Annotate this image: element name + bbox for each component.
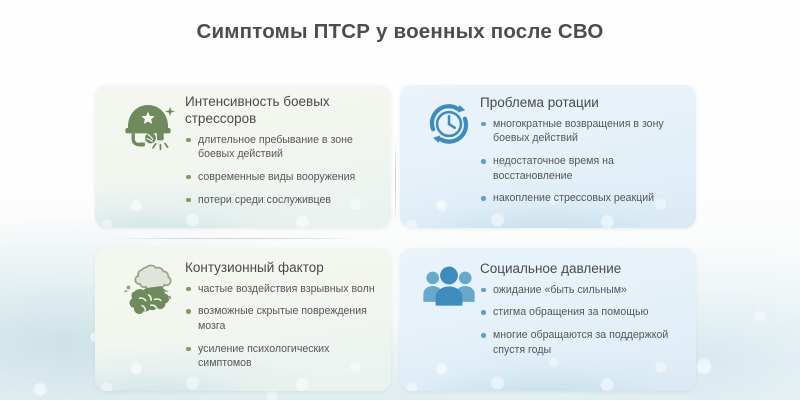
card-heading: Контузионный фактор [185, 260, 381, 277]
bullet-item: накопление стрессовых реакций [480, 191, 688, 206]
clock-rotation-icon [418, 95, 480, 149]
slide-canvas: Симптомы ПТСР у военных после СВО [0, 0, 800, 400]
military-helmet-bullet-icon [113, 94, 185, 154]
card-heading: Интенсивность боевых стрессоров [185, 94, 381, 128]
card-concussion-factor[interactable]: Контузионный фактор частые воздействия в… [95, 248, 391, 391]
bullet-list: ожидание «быть сильным» стигма обращения… [480, 283, 688, 357]
bullet-item: недостаточное время на восстановление [480, 154, 688, 183]
bullet-list: многократные возвращения в зону боевых д… [480, 117, 688, 206]
horizontal-divider [110, 238, 360, 239]
bullet-item: потери среди сослуживцев [185, 193, 381, 208]
bullet-list: длительное пребывание в зоне боевых дейс… [185, 133, 381, 207]
brain-blast-icon [113, 260, 185, 318]
bullet-item: многие обращаются за поддержкой спустя г… [480, 328, 688, 357]
page-title: Симптомы ПТСР у военных после СВО [0, 20, 800, 44]
bullet-item: возможные скрытые повреждения мозга [185, 304, 381, 333]
card-combat-stressors[interactable]: Интенсивность боевых стрессоров длительн… [95, 85, 391, 228]
card-social-pressure[interactable]: Социальное давление ожидание «быть сильн… [400, 248, 696, 391]
card-rotation-problem[interactable]: Проблема ротации многократные возвращени… [400, 85, 696, 228]
bullet-item: многократные возвращения в зону боевых д… [480, 117, 688, 146]
group-people-icon [418, 261, 480, 309]
bullet-item: частые воздействия взрывных волн [185, 282, 381, 297]
card-heading: Социальное давление [480, 261, 688, 278]
bullet-item: ожидание «быть сильным» [480, 283, 688, 298]
bullet-item: длительное пребывание в зоне боевых дейс… [185, 133, 381, 162]
card-heading: Проблема ротации [480, 95, 688, 112]
bullet-list: частые воздействия взрывных волн возможн… [185, 282, 381, 371]
bullet-item: стигма обращения за помощью [480, 305, 688, 320]
vertical-divider [395, 140, 396, 222]
bullet-item: современные виды вооружения [185, 170, 381, 185]
bullet-item: усиление психологических симптомов [185, 342, 381, 371]
